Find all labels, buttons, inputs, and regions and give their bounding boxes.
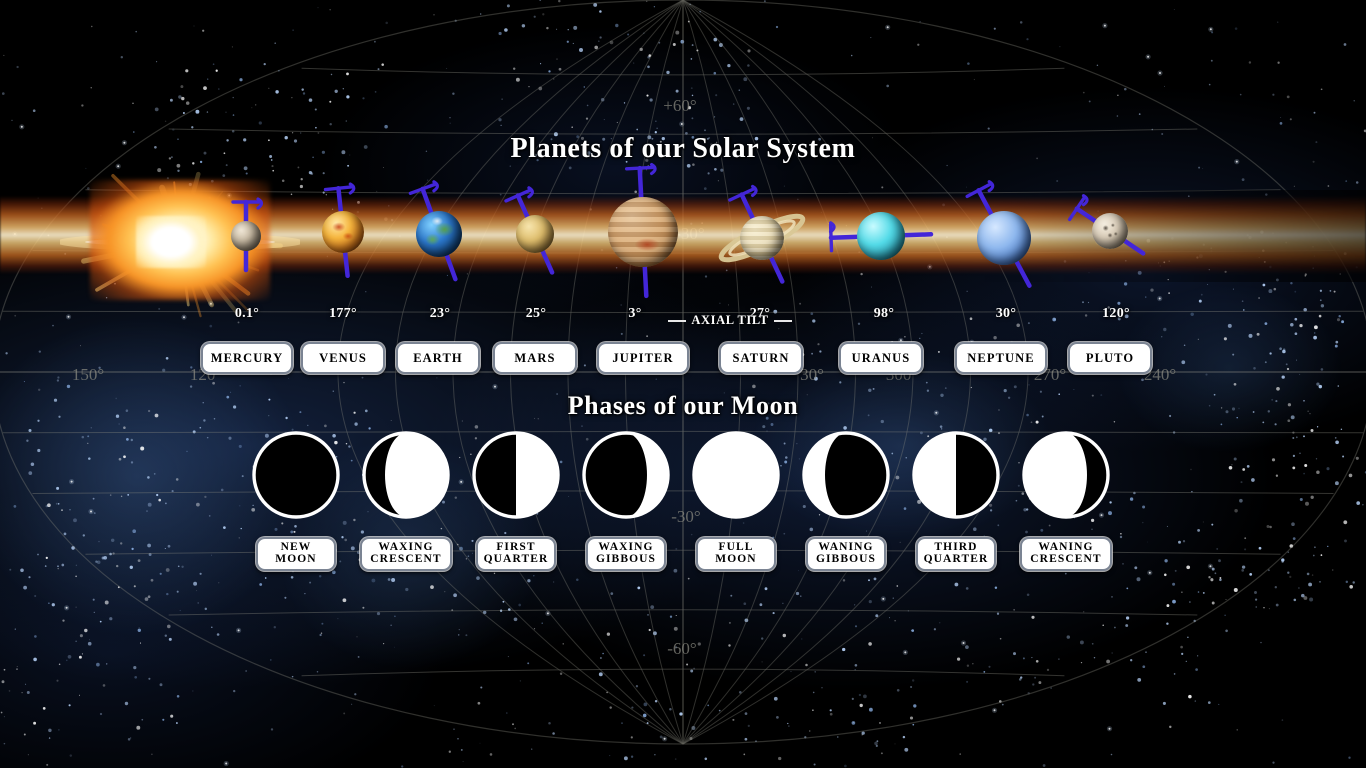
page-title-moon: Phases of our Moon — [0, 391, 1366, 421]
moon-phase-label-waxing-gibbous[interactable]: WAXINGGIBBOUS — [586, 537, 666, 571]
planet-label-text: URANUS — [852, 352, 911, 365]
svg-text:30°: 30° — [800, 365, 824, 384]
moon-phase-label-first-quarter[interactable]: FIRSTQUARTER — [476, 537, 556, 571]
axial-tilt-label: AXIAL TILT — [691, 313, 768, 328]
planet-label-saturn[interactable]: SATURN — [719, 342, 803, 374]
planet-uranus — [823, 170, 939, 302]
planet-label-text: EARTH — [413, 352, 463, 365]
svg-text:150°: 150° — [72, 365, 104, 384]
axial-tilt-value-earth: 23° — [400, 306, 480, 322]
moon-phase-new-moon — [248, 427, 344, 523]
axial-tilt-value-neptune: 30° — [966, 306, 1046, 322]
legend-rule-right — [774, 320, 792, 322]
planet-body-pluto — [1092, 213, 1128, 249]
moon-phase-label-waning-crescent[interactable]: WANINGCRESCENT — [1020, 537, 1112, 571]
planet-label-text: SATURN — [732, 352, 789, 365]
moon-disc-icon — [578, 427, 674, 523]
planet-label-mercury[interactable]: MERCURY — [201, 342, 293, 374]
moon-disc-icon — [468, 427, 564, 523]
moon-phase-label-third-quarter[interactable]: THIRDQUARTER — [916, 537, 996, 571]
planet-label-text: JUPITER — [612, 352, 673, 365]
moon-phase-waxing-gibbous — [578, 427, 674, 523]
moon-phase-third-quarter — [908, 427, 1004, 523]
moon-label-line2: QUARTER — [924, 554, 989, 566]
moon-disc-icon — [688, 427, 784, 523]
moon-disc-icon — [798, 427, 894, 523]
axial-tilt-value-pluto: 120° — [1076, 306, 1156, 322]
planet-body-neptune — [977, 211, 1031, 265]
planet-label-venus[interactable]: VENUS — [301, 342, 385, 374]
moon-phase-label-full-moon[interactable]: FULLMOON — [696, 537, 776, 571]
moon-label-line2: GIBBOUS — [816, 554, 876, 566]
moon-label-text: FULLMOON — [715, 542, 756, 566]
moon-disc-icon — [908, 427, 1004, 523]
planet-body-earth — [416, 211, 462, 257]
moon-disc-icon — [248, 427, 344, 523]
planet-body-uranus — [857, 212, 905, 260]
planet-jupiter — [574, 155, 712, 309]
planet-label-text: MERCURY — [211, 352, 284, 365]
svg-text:-60°: -60° — [667, 639, 696, 658]
axial-tilt-value-mars: 25° — [496, 306, 576, 322]
moon-phase-label-new-moon[interactable]: NEWMOON — [256, 537, 336, 571]
moon-label-line2: GIBBOUS — [596, 554, 656, 566]
planet-earth — [382, 169, 496, 299]
moon-label-line2: CRESCENT — [1030, 554, 1101, 566]
planet-label-pluto[interactable]: PLUTO — [1068, 342, 1152, 374]
moon-label-line2: QUARTER — [484, 554, 549, 566]
planet-body-saturn — [740, 216, 784, 260]
moon-label-text: WANINGGIBBOUS — [816, 542, 876, 566]
moon-phase-waxing-crescent — [358, 427, 454, 523]
moon-phase-first-quarter — [468, 427, 564, 523]
planet-label-earth[interactable]: EARTH — [396, 342, 480, 374]
planet-pluto — [1058, 171, 1162, 291]
axial-tilt-value-uranus: 98° — [844, 306, 924, 322]
moon-phase-waning-crescent — [1018, 427, 1114, 523]
planet-label-text: NEPTUNE — [967, 352, 1034, 365]
moon-label-text: NEWMOON — [275, 542, 316, 566]
moon-phase-full-moon — [688, 427, 784, 523]
planet-label-text: VENUS — [319, 352, 367, 365]
moon-label-text: FIRSTQUARTER — [484, 542, 549, 566]
planet-label-uranus[interactable]: URANUS — [839, 342, 923, 374]
planet-label-text: PLUTO — [1086, 352, 1134, 365]
planet-mars — [482, 173, 588, 295]
moon-phase-waning-gibbous — [798, 427, 894, 523]
planet-body-jupiter — [608, 197, 678, 267]
moon-label-line2: MOON — [275, 554, 316, 566]
moon-label-line2: MOON — [715, 554, 756, 566]
svg-text:+60°: +60° — [663, 96, 696, 115]
moon-label-text: WAXINGGIBBOUS — [596, 542, 656, 566]
planet-label-text: MARS — [514, 352, 555, 365]
planet-body-mercury — [231, 221, 261, 251]
planet-body-mars — [516, 215, 554, 253]
moon-label-text: WAXINGCRESCENT — [370, 542, 441, 566]
moon-phase-label-waxing-crescent[interactable]: WAXINGCRESCENT — [360, 537, 452, 571]
planet-body-venus — [322, 211, 364, 253]
moon-label-text: THIRDQUARTER — [924, 542, 989, 566]
moon-label-line2: CRESCENT — [370, 554, 441, 566]
moon-disc-icon — [1018, 427, 1114, 523]
axial-tilt-value-mercury: 0.1° — [207, 306, 287, 322]
moon-phase-label-waning-gibbous[interactable]: WANINGGIBBOUS — [806, 537, 886, 571]
planet-mercury — [197, 179, 295, 293]
planet-label-jupiter[interactable]: JUPITER — [597, 342, 689, 374]
sun-core — [136, 216, 206, 268]
moon-disc-icon — [358, 427, 454, 523]
planet-label-mars[interactable]: MARS — [493, 342, 577, 374]
moon-label-text: WANINGCRESCENT — [1030, 542, 1101, 566]
infographic-canvas: +60°-30°150°120°30°300°270°240°-30°-60° … — [0, 0, 1366, 768]
legend-rule-left — [668, 320, 686, 322]
celestial-coordinate-grid: +60°-30°150°120°30°300°270°240°-30°-60° — [0, 0, 1366, 768]
planet-label-neptune[interactable]: NEPTUNE — [955, 342, 1047, 374]
planet-saturn — [706, 174, 818, 302]
axial-tilt-value-venus: 177° — [303, 306, 383, 322]
planet-neptune — [943, 169, 1065, 307]
axial-tilt-legend: AXIAL TILT — [650, 313, 810, 328]
